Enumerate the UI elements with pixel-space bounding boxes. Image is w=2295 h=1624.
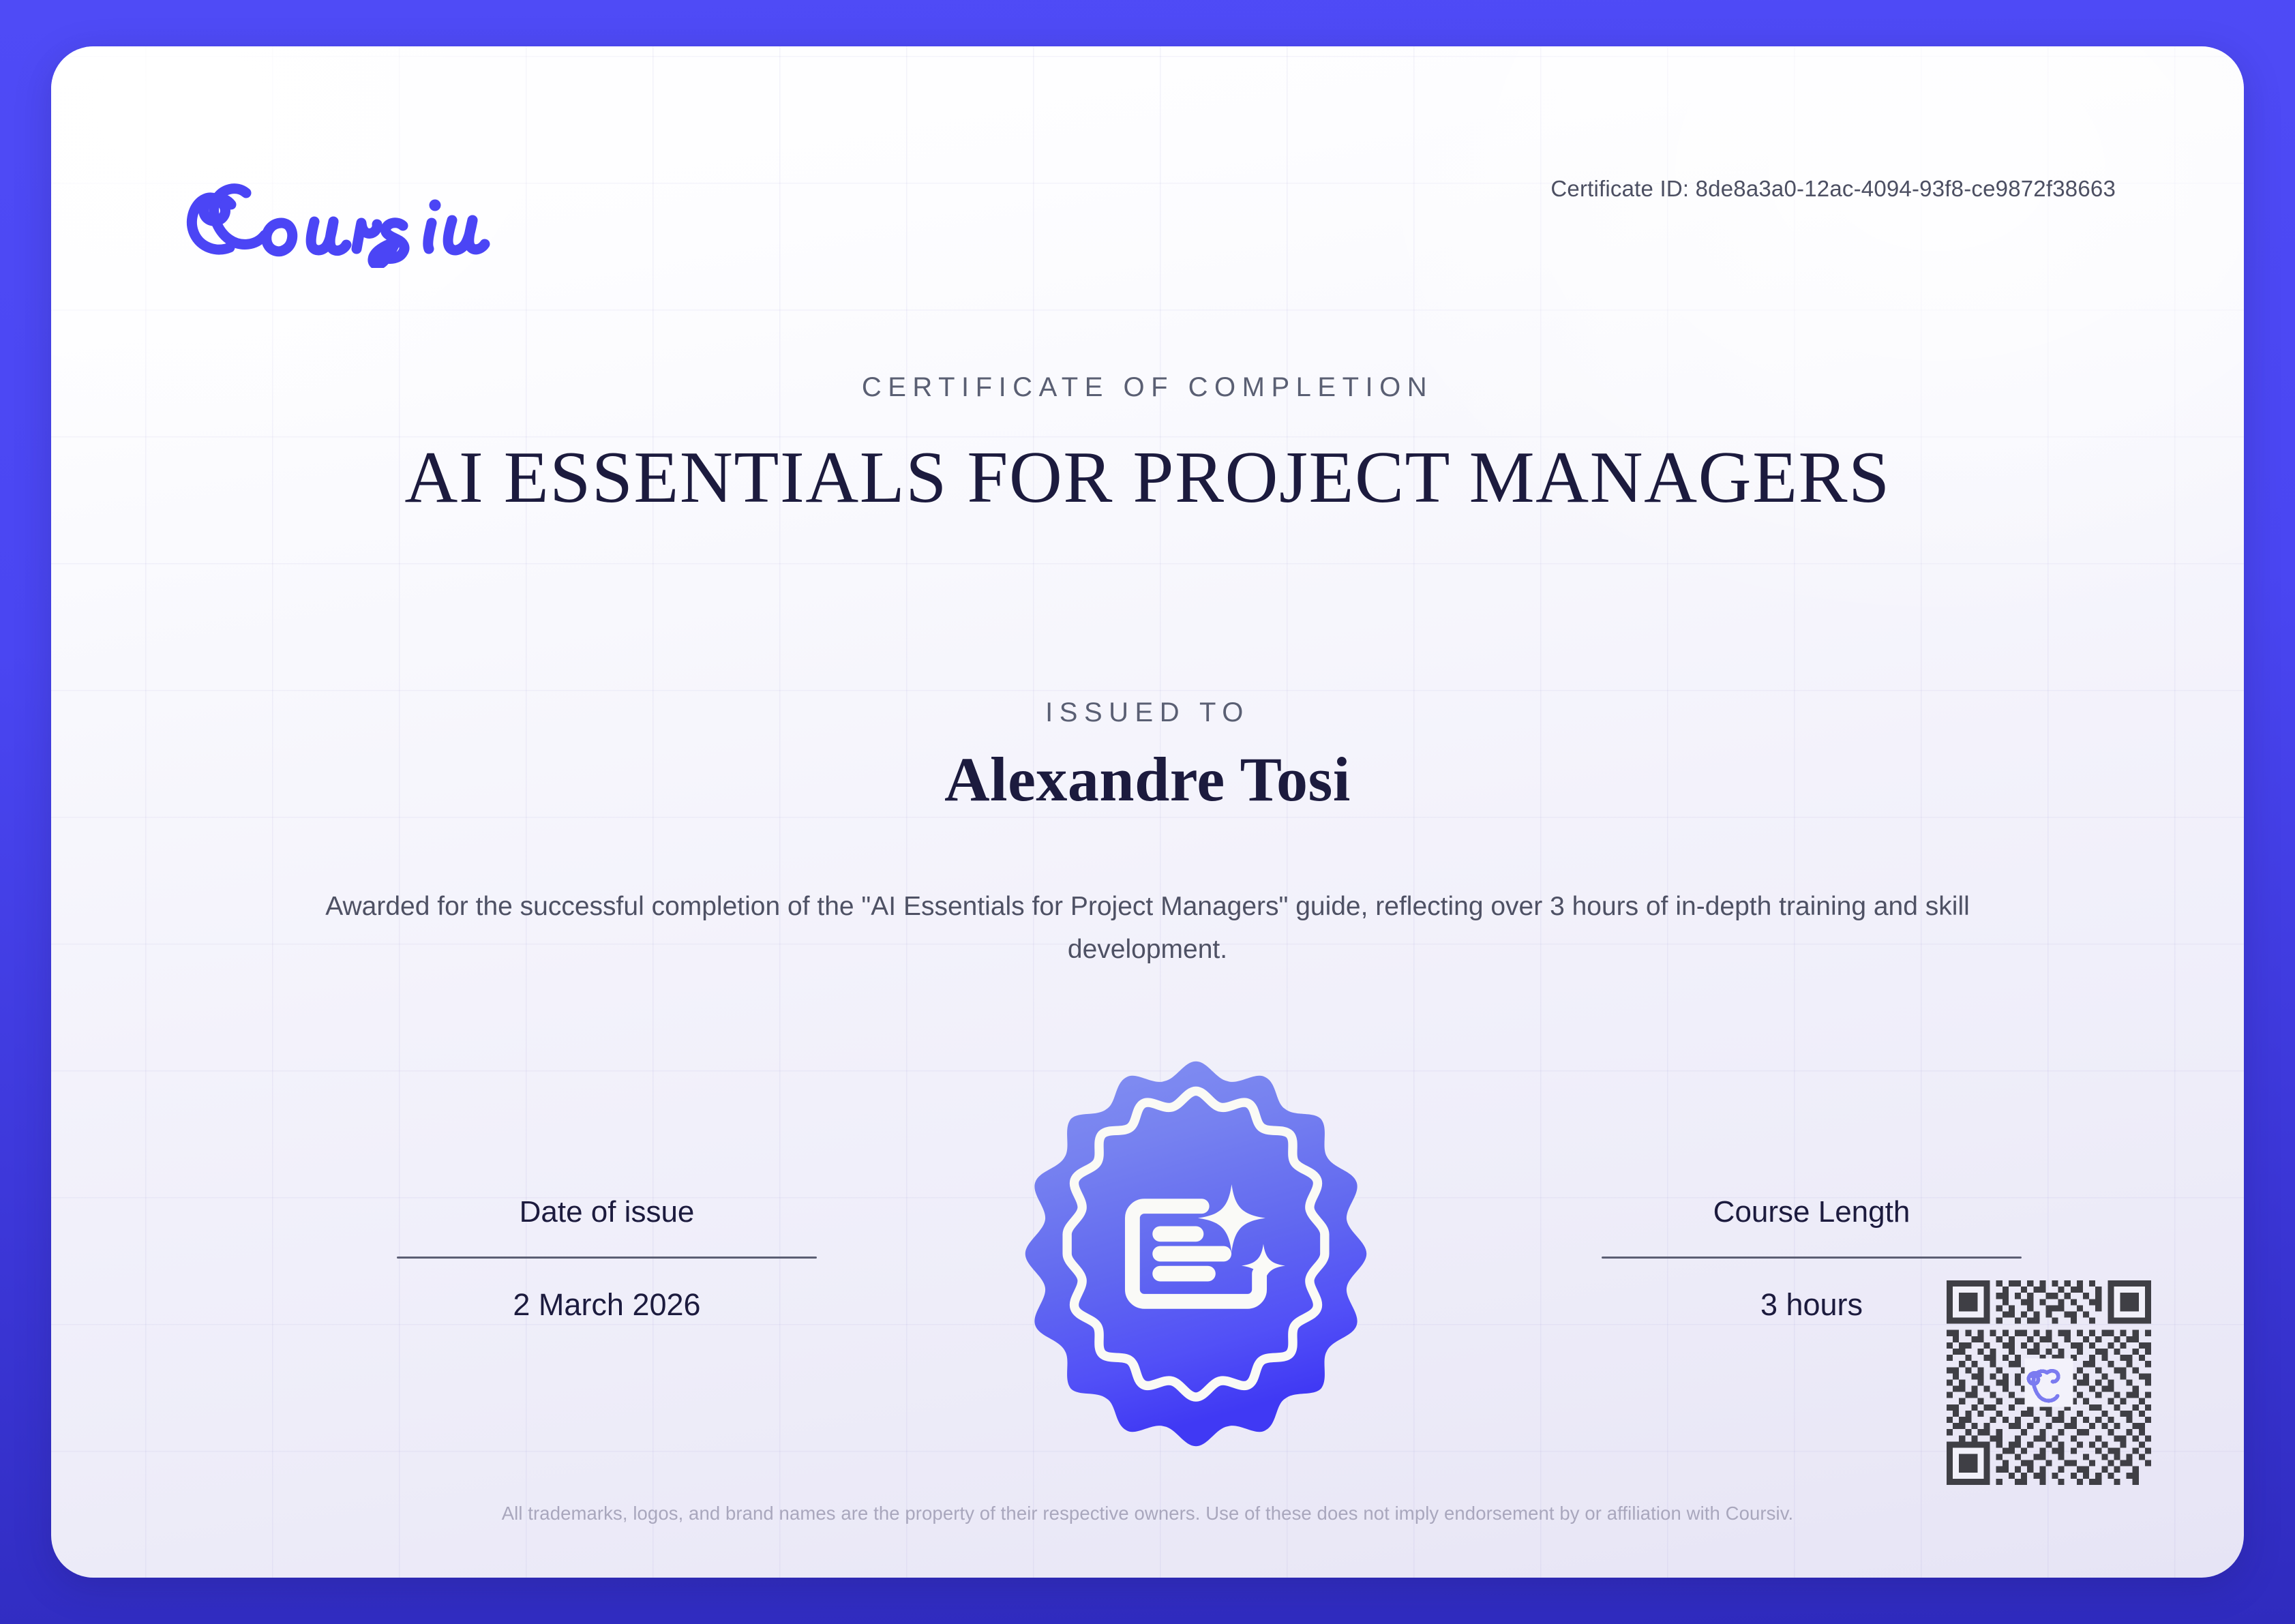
certificate-page: Certificate ID: 8de8a3a0-12ac-4094-93f8-…: [0, 0, 2295, 1624]
course-length-label: Course Length: [1587, 1193, 2037, 1231]
certificate-card: Certificate ID: 8de8a3a0-12ac-4094-93f8-…: [51, 46, 2244, 1578]
recipient-name: Alexandre Tosi: [51, 745, 2244, 814]
date-of-issue-block: Date of issue 2 March 2026: [382, 1193, 832, 1323]
course-title: AI ESSENTIALS FOR PROJECT MANAGERS: [404, 435, 1891, 520]
date-of-issue-rule: [397, 1257, 817, 1259]
issued-to-label: ISSUED TO: [51, 697, 2244, 728]
certificate-content: Certificate ID: 8de8a3a0-12ac-4094-93f8-…: [51, 46, 2244, 1578]
qr-code[interactable]: [1947, 1280, 2151, 1485]
date-of-issue-label: Date of issue: [382, 1193, 832, 1231]
document-sparkle-badge-icon: [997, 1050, 1394, 1458]
certificate-id: Certificate ID: 8de8a3a0-12ac-4094-93f8-…: [1550, 176, 2116, 202]
coursiv-logo-icon: [181, 172, 501, 268]
date-of-issue-value: 2 March 2026: [382, 1287, 832, 1323]
certificate-eyebrow: CERTIFICATE OF COMPLETION: [51, 372, 2244, 403]
course-length-rule: [1602, 1257, 2022, 1259]
certificate-description: Awarded for the successful completion of…: [247, 885, 2047, 971]
footer-disclaimer: All trademarks, logos, and brand names a…: [51, 1503, 2244, 1524]
